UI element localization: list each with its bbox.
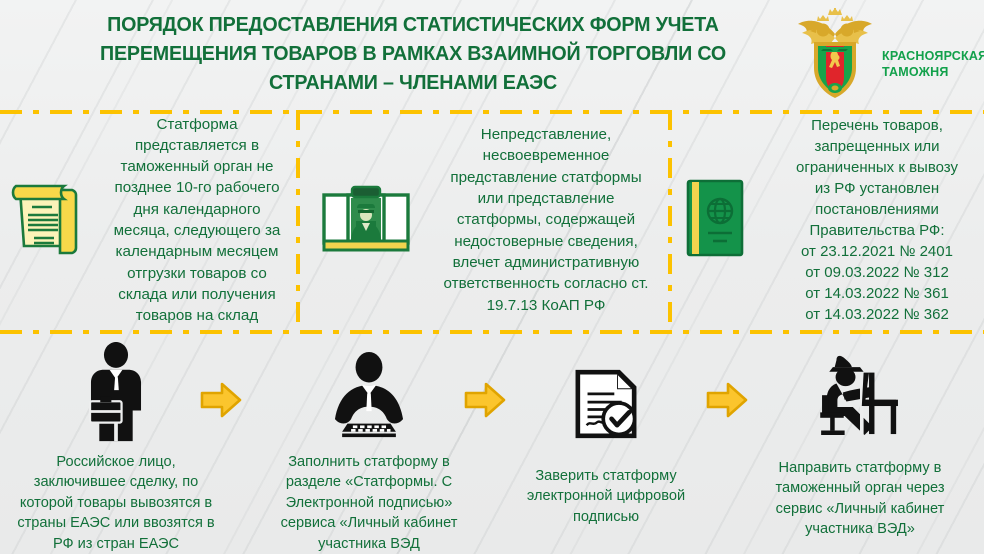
fact-card-deadline: Статформа представляется в таможенный ор… [0, 110, 296, 330]
arrow-step-2-to-3 [464, 382, 506, 418]
step-text: Заверить статформу электронной цифровой … [527, 466, 685, 527]
logo-line-2: ТАМОЖНЯ [882, 64, 978, 80]
infographic-root: ПОРЯДОК ПРЕДОСТАВЛЕНИЯ СТАТИСТИЧЕСКИХ ФО… [0, 0, 984, 554]
customs-officer-booth-icon [318, 179, 424, 262]
logo: КРАСНОЯРСКАЯ ТАМОЖНЯ [786, 6, 978, 100]
officer-at-desk-computer-icon [813, 336, 907, 442]
page-title: ПОРЯДОК ПРЕДОСТАВЛЕНИЯ СТАТИСТИЧЕСКИХ ФО… [63, 10, 764, 97]
logo-text: КРАСНОЯРСКАЯ ТАМОЖНЯ [882, 48, 978, 80]
step-card-1: Российское лицо, заключившее сделку, по … [2, 336, 230, 554]
separator-middle [0, 330, 984, 334]
fact-card-liability: Непредставление, несвоевременное предста… [300, 110, 668, 330]
person-typing-keyboard-icon [326, 336, 412, 442]
fact-text: Перечень товаров, запрещенных или ограни… [770, 115, 984, 325]
scroll-document-icon [6, 176, 98, 265]
step-text: Заполнить статформу в разделе «Статформы… [281, 452, 458, 554]
fact-card-prohibited-goods: Перечень товаров, запрещенных или ограни… [672, 110, 984, 330]
passport-book-icon [678, 173, 770, 268]
step-card-3: Заверить статформу электронной цифровой … [508, 336, 704, 554]
step-card-4: Направить статформу в таможенный орган ч… [738, 336, 982, 554]
fact-text: Статформа представляется в таможенный ор… [98, 114, 296, 327]
logo-line-1: КРАСНОЯРСКАЯ [882, 48, 978, 64]
fact-text: Непредставление, несвоевременное предста… [424, 124, 668, 316]
arrow-step-1-to-2 [200, 382, 242, 418]
step-text: Направить статформу в таможенный орган ч… [775, 458, 944, 540]
businessman-with-briefcase-icon [78, 336, 154, 442]
step-text: Российское лицо, заключившее сделку, по … [17, 452, 214, 554]
step-card-2: Заполнить статформу в разделе «Статформы… [258, 336, 480, 554]
signed-document-check-icon [570, 336, 642, 442]
russian-double-headed-eagle-emblem [792, 8, 878, 100]
header: ПОРЯДОК ПРЕДОСТАВЛЕНИЯ СТАТИСТИЧЕСКИХ ФО… [0, 0, 984, 104]
